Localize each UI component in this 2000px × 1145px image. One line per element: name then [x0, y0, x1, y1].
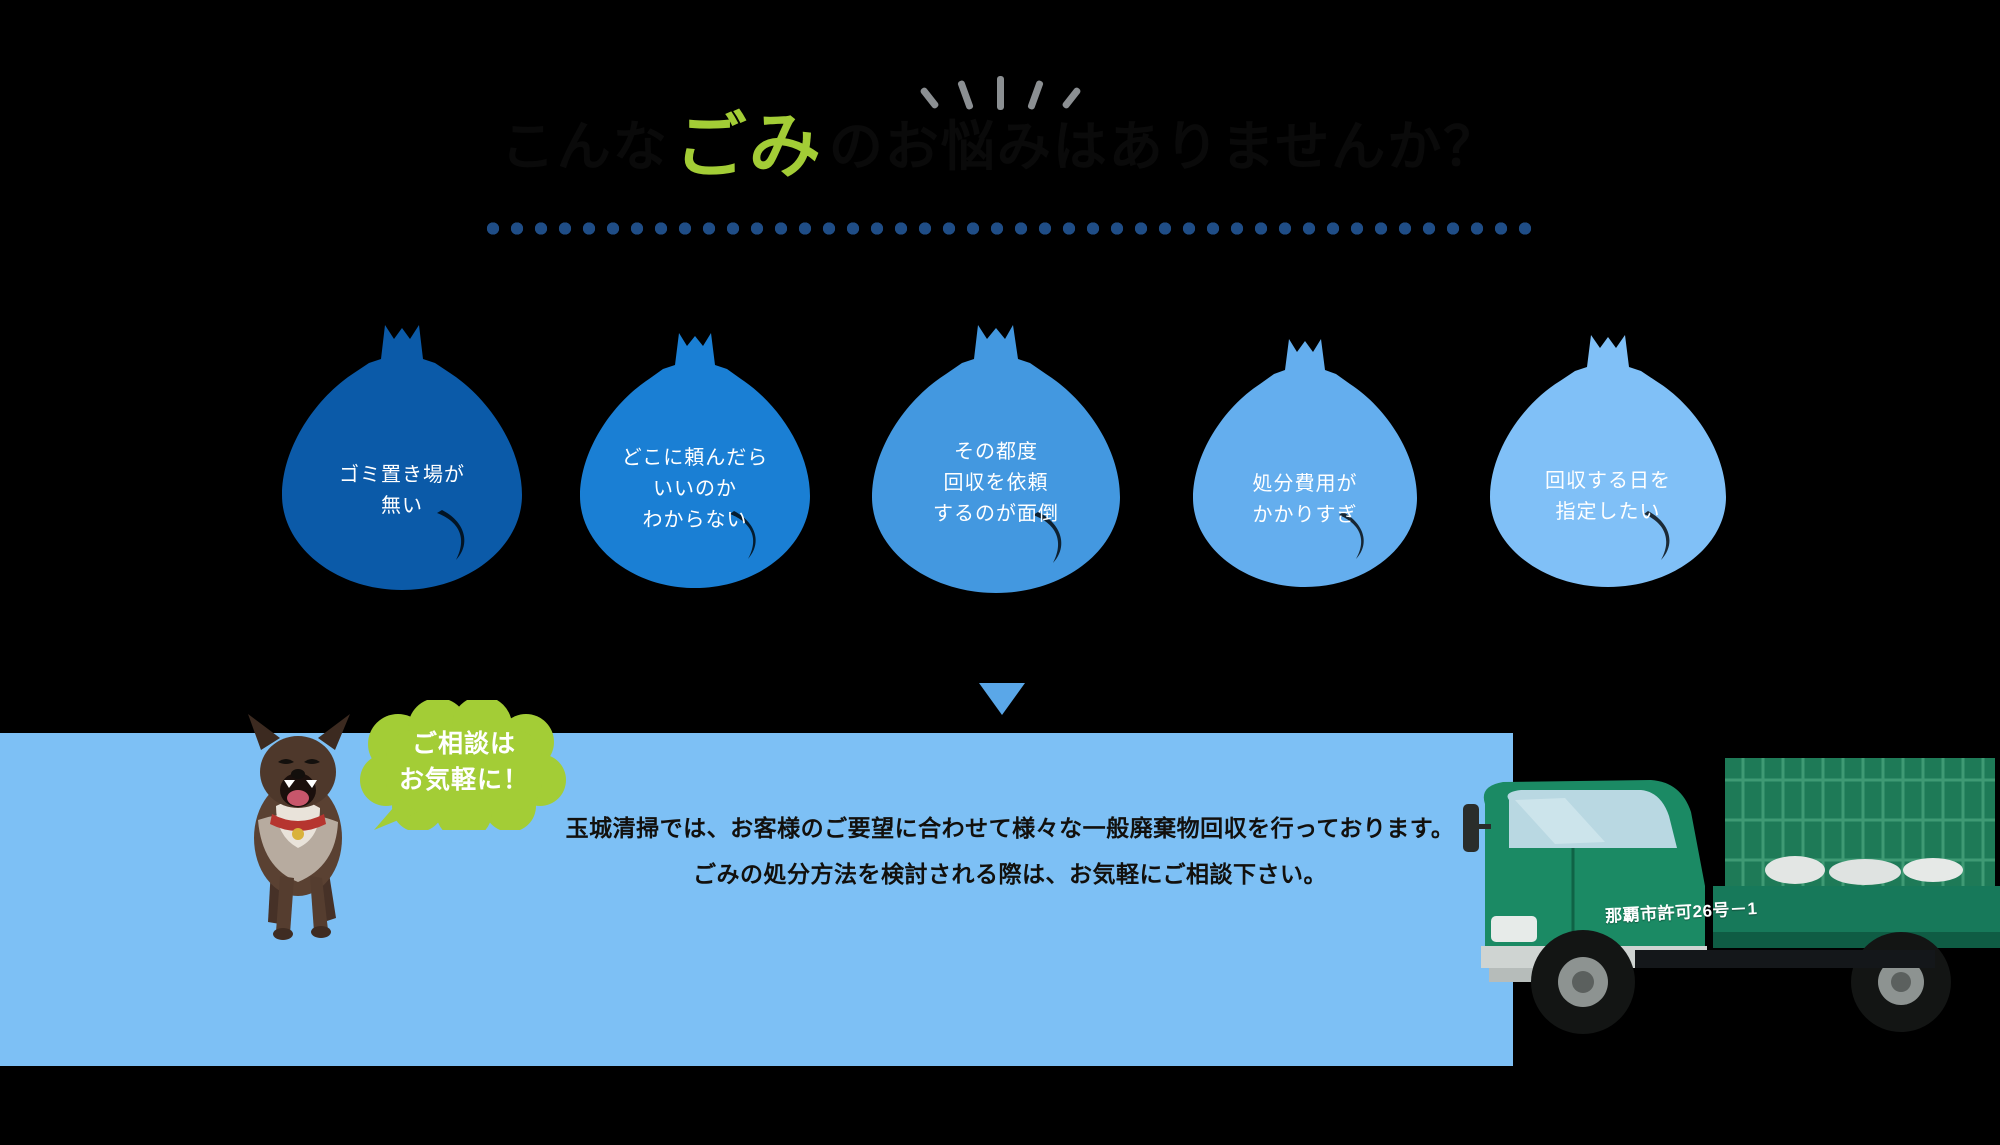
dog-photo — [228, 710, 368, 940]
bag-shape-3 — [872, 325, 1120, 593]
headline-block: こんなごみのお悩みはありませんか？ — [0, 108, 2000, 187]
pain-point-bag-1[interactable]: ゴミ置き場が 無い — [282, 325, 522, 590]
bubble-line-1: ご相談は — [360, 726, 568, 762]
triangle-down-icon — [979, 683, 1025, 715]
pain-point-bag-3[interactable]: その都度 回収を依頼 するのが面倒 — [872, 325, 1120, 593]
sparkle-lines-icon — [920, 50, 1080, 110]
info-panel-text: 玉城清掃では、お客様のご要望に合わせて様々な一般廃棄物回収を行っております。 ご… — [560, 805, 1460, 897]
pain-point-bag-4[interactable]: 処分費用が かかりすぎ — [1193, 339, 1417, 587]
headline-accent: ごみ — [669, 107, 829, 187]
info-line-2: ごみの処分方法を検討される際は、お気軽にご相談下さい。 — [560, 851, 1460, 897]
page-root: こんなごみのお悩みはありませんか？ ゴミ置き場が 無い どこに頼んだら いい — [0, 0, 2000, 1145]
bag-shape-4 — [1193, 339, 1417, 587]
info-line-1: 玉城清掃では、お客様のご要望に合わせて様々な一般廃棄物回収を行っております。 — [560, 805, 1460, 851]
speech-bubble: ご相談は お気軽に！ — [360, 700, 568, 820]
bag-shape-2 — [580, 333, 810, 588]
info-panel — [0, 733, 1513, 1066]
bag-shape-1 — [282, 325, 522, 590]
headline-suffix: のお悩みはありませんか？ — [829, 117, 1499, 177]
bubble-line-2: お気軽に！ — [360, 762, 568, 798]
pain-point-bag-list: ゴミ置き場が 無い どこに頼んだら いいのか わからない その都度 — [0, 325, 2000, 605]
dotted-divider — [481, 222, 1536, 235]
bag-shape-5 — [1490, 335, 1726, 587]
headline-prefix: こんな — [501, 117, 669, 177]
pain-point-bag-2[interactable]: どこに頼んだら いいのか わからない — [580, 333, 810, 588]
pain-point-bag-5[interactable]: 回収する日を 指定したい — [1490, 335, 1726, 587]
speech-bubble-text: ご相談は お気軽に！ — [360, 726, 568, 799]
page-title: こんなごみのお悩みはありませんか？ — [501, 108, 1499, 187]
